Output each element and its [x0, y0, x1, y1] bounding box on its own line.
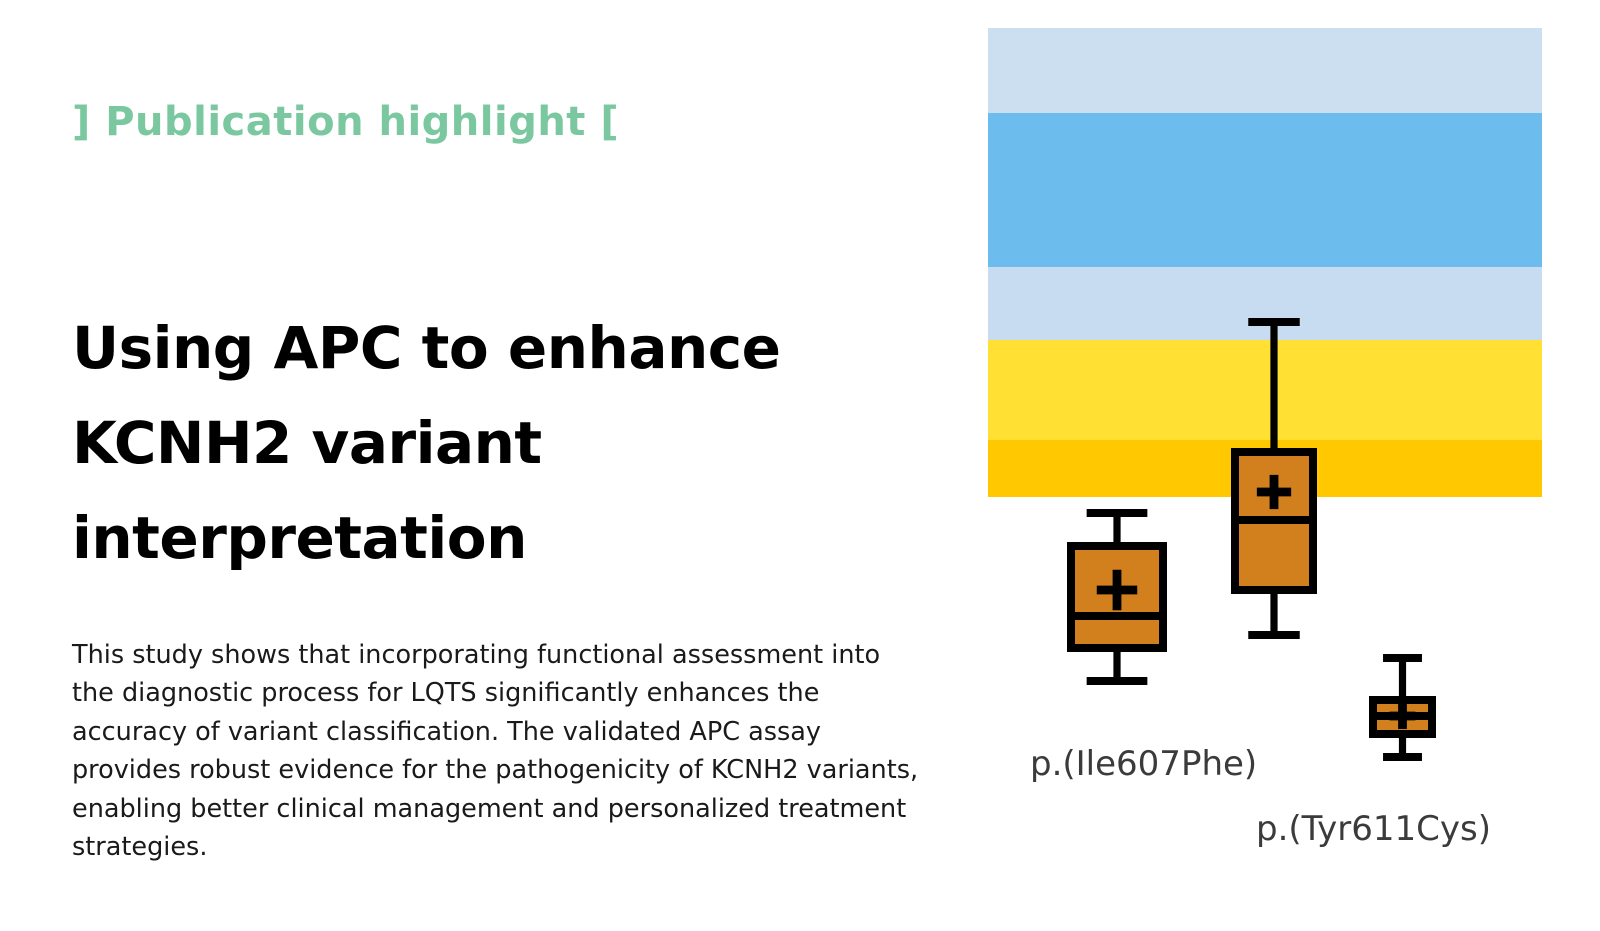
label-tyr611cys: p.(Tyr611Cys)	[1256, 809, 1491, 849]
band-top-light-blue	[988, 28, 1542, 113]
background-bands	[988, 28, 1542, 497]
summary-paragraph: This study shows that incorporating func…	[72, 636, 922, 867]
box-plot-1	[1071, 513, 1163, 681]
band-lower-light-blue	[988, 267, 1542, 340]
publication-highlight-slide: ] Publication highlight [ Using APC to e…	[0, 0, 1600, 931]
label-ile607phe: p.(Ile607Phe)	[1030, 744, 1257, 784]
box-plot-3	[1373, 658, 1432, 757]
page-title: Using APC to enhance KCNH2 variant inter…	[72, 301, 892, 586]
text-column: ] Publication highlight [ Using APC to e…	[0, 0, 960, 931]
band-yellow	[988, 340, 1542, 440]
eyebrow-label: ] Publication highlight [	[72, 99, 619, 145]
band-mid-blue	[988, 113, 1542, 267]
boxplot-figure: p.(Ile607Phe)p.(Tyr611Cys)	[960, 0, 1600, 931]
boxplot-chart: p.(Ile607Phe)p.(Tyr611Cys)	[960, 0, 1600, 931]
